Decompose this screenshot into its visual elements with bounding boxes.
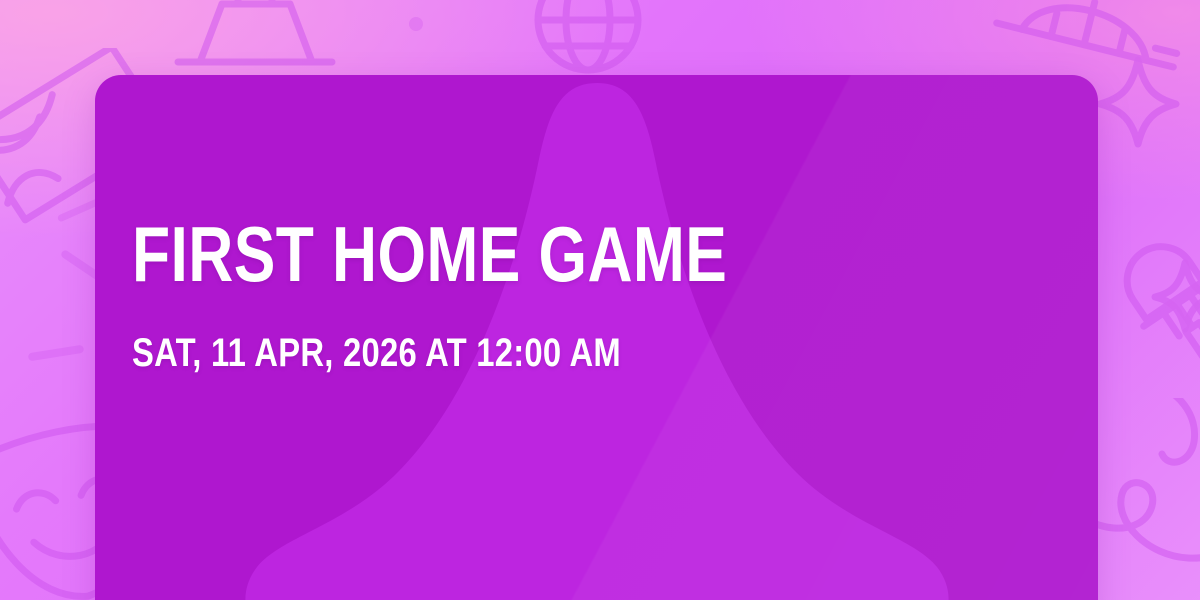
sparkle-icon: [1150, 258, 1200, 334]
confetti-dot-icon: [404, 12, 428, 36]
sparkle-icon: [1094, 54, 1182, 150]
card-content: FIRST HOME GAME SAT, 11 APR, 2026 AT 12:…: [132, 75, 876, 600]
confetti-dash-icon: [28, 340, 90, 366]
event-datetime: SAT, 11 APR, 2026 AT 12:00 AM: [132, 293, 742, 373]
stage-lights-icon: [160, 0, 350, 86]
event-card[interactable]: FIRST HOME GAME SAT, 11 APR, 2026 AT 12:…: [95, 75, 1098, 600]
event-poster: FIRST HOME GAME SAT, 11 APR, 2026 AT 12:…: [0, 0, 1200, 600]
event-title: FIRST HOME GAME: [132, 215, 727, 293]
